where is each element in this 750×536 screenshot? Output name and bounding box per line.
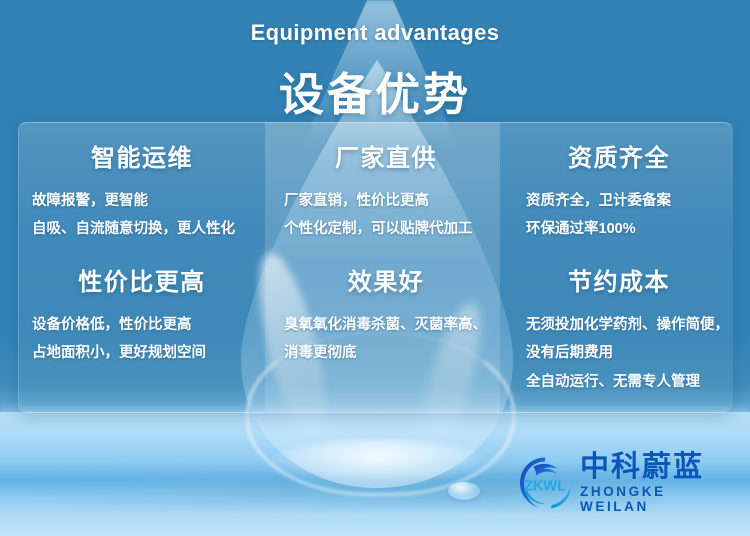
feature-heading: 厂家直供 [280, 138, 492, 173]
feature-line: 资质齐全，卫计委备案 [520, 191, 718, 212]
company-logo: ZKWL 中科蔚蓝 ZHONGKE WEILAN [516, 452, 738, 514]
feature-line: 个性化定制，可以贴牌代加工 [280, 219, 492, 240]
feature-line: 无须投加化学药剂、操作简便， [520, 315, 718, 336]
feature-heading: 资质齐全 [520, 138, 718, 173]
feature-heading: 智能运维 [32, 138, 252, 173]
waterdrop-base-glow [268, 440, 488, 486]
feature-card-3: 资质齐全 资质齐全，卫计委备案 环保通过率100% [506, 138, 732, 248]
feature-heading: 效果好 [280, 262, 492, 297]
poster-canvas: Equipment advantages 设备优势 智能运维 故障报警，更智能 … [0, 0, 750, 536]
feature-card-5: 效果好 臭氧氧化消毒杀菌、灭菌率高、 消毒更彻底 [266, 262, 506, 372]
feature-line: 占地面积小，更好规划空间 [32, 343, 252, 364]
features-grid: 智能运维 故障报警，更智能 自吸、自流随意切换，更人性化 厂家直供 厂家直销，性… [18, 122, 732, 412]
feature-card-1: 智能运维 故障报警，更智能 自吸、自流随意切换，更人性化 [18, 138, 266, 248]
logo-name-pinyin: ZHONGKE WEILAN [580, 484, 738, 514]
page-title-english: Equipment advantages [0, 20, 750, 46]
feature-card-4: 性价比更高 设备价格低，性价比更高 占地面积小，更好规划空间 [18, 262, 266, 372]
feature-card-2: 厂家直供 厂家直销，性价比更高 个性化定制，可以贴牌代加工 [266, 138, 506, 248]
feature-line: 厂家直销，性价比更高 [280, 191, 492, 212]
logo-name-chinese: 中科蔚蓝 [580, 452, 738, 482]
feature-line: 自吸、自流随意切换，更人性化 [32, 219, 252, 240]
feature-line: 全自动运行、无需专人管理 [520, 372, 718, 393]
feature-line: 环保通过率100% [520, 219, 718, 240]
feature-line: 臭氧氧化消毒杀菌、灭菌率高、 [280, 315, 492, 336]
small-droplet [448, 482, 480, 500]
dolphin-wave-emblem-icon: ZKWL [516, 454, 574, 512]
logo-wordmark: 中科蔚蓝 ZHONGKE WEILAN [580, 452, 738, 514]
feature-line: 没有后期费用 [520, 343, 718, 364]
feature-line: 消毒更彻底 [280, 343, 492, 364]
feature-heading: 节约成本 [520, 262, 718, 297]
feature-card-6: 节约成本 无须投加化学药剂、操作简便， 没有后期费用 全自动运行、无需专人管理 [506, 262, 732, 400]
page-title-chinese: 设备优势 [0, 58, 750, 123]
feature-line: 设备价格低，性价比更高 [32, 315, 252, 336]
svg-text:ZKWL: ZKWL [524, 479, 566, 495]
feature-line: 故障报警，更智能 [32, 191, 252, 212]
feature-heading: 性价比更高 [32, 262, 252, 297]
